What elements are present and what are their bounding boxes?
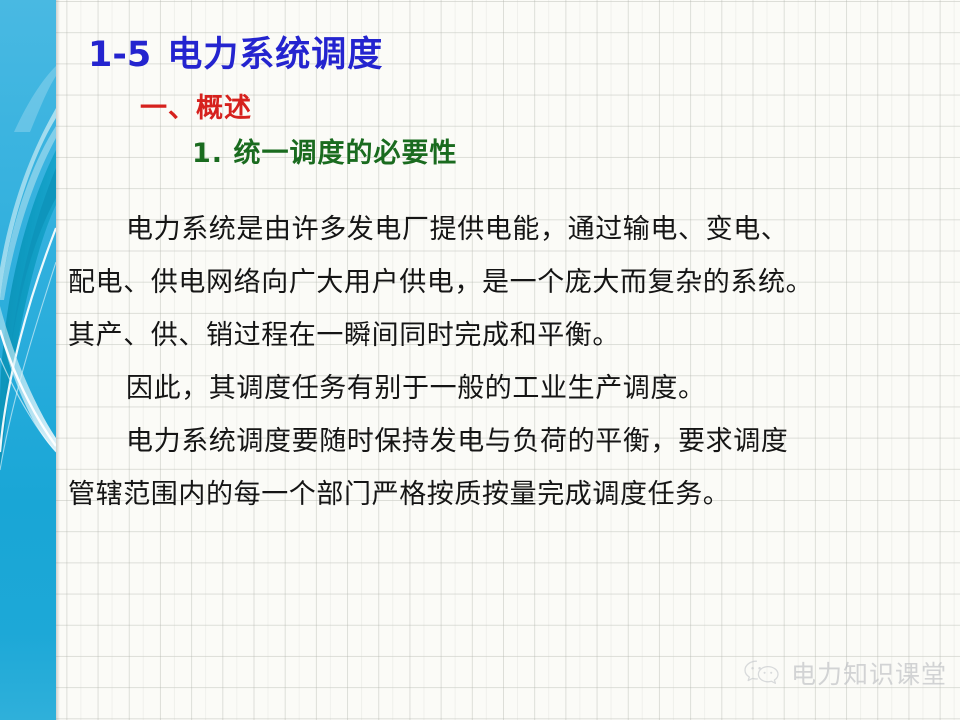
title-number: 1-5: [88, 35, 167, 75]
decorative-blue-band: [0, 0, 56, 720]
wechat-icon: [742, 658, 782, 688]
body-line: 电力系统调度要随时保持发电与负荷的平衡，要求调度: [68, 415, 948, 468]
title-text: 电力系统调度: [167, 35, 383, 75]
slide-canvas: 1-5电力系统调度 一、概述 1. 统一调度的必要性 电力系统是由许多发电厂提供…: [0, 0, 960, 720]
body-line: 其产、供、销过程在一瞬间同时完成和平衡。: [68, 309, 948, 362]
watermark: 电力知识课堂: [742, 655, 947, 691]
page-title: 1-5电力系统调度: [88, 26, 383, 77]
body-line: 因此，其调度任务有别于一般的工业生产调度。: [68, 362, 948, 415]
band-edge-shadow: [56, 0, 60, 720]
band-swirl-graphic: [0, 0, 56, 720]
body-line: 电力系统是由许多发电厂提供电能，通过输电、变电、: [68, 203, 948, 256]
section-heading-one: 一、概述: [140, 86, 252, 125]
body-line: 管辖范围内的每一个部门严格按质按量完成调度任务。: [68, 468, 948, 521]
body-text-block: 电力系统是由许多发电厂提供电能，通过输电、变电、 配电、供电网络向广大用户供电，…: [68, 203, 948, 521]
body-line: 配电、供电网络向广大用户供电，是一个庞大而复杂的系统。: [68, 256, 948, 309]
watermark-text: 电力知识课堂: [791, 655, 947, 691]
subsection-heading: 1. 统一调度的必要性: [192, 131, 457, 170]
